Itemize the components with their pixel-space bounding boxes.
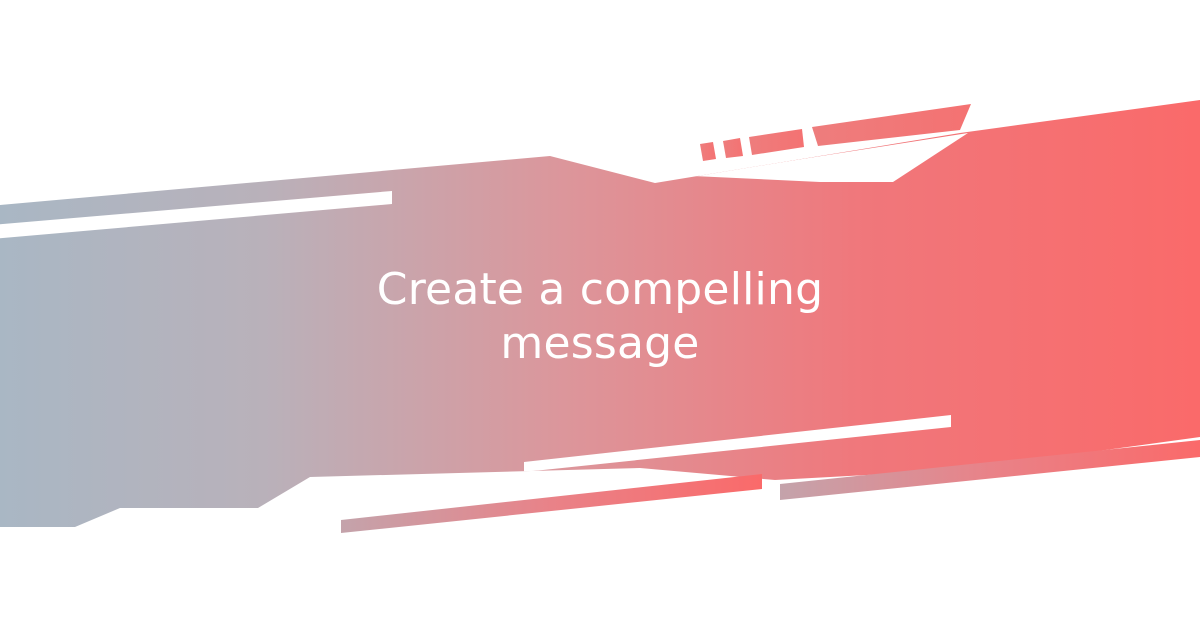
banner-artwork: [0, 0, 1200, 630]
banner-graphic: Create a compelling message: [0, 0, 1200, 630]
accent-bar-left: [341, 474, 762, 533]
dash-segment-3: [749, 129, 804, 155]
dash-segment-2: [723, 138, 743, 158]
dash-segment-1: [700, 142, 716, 161]
